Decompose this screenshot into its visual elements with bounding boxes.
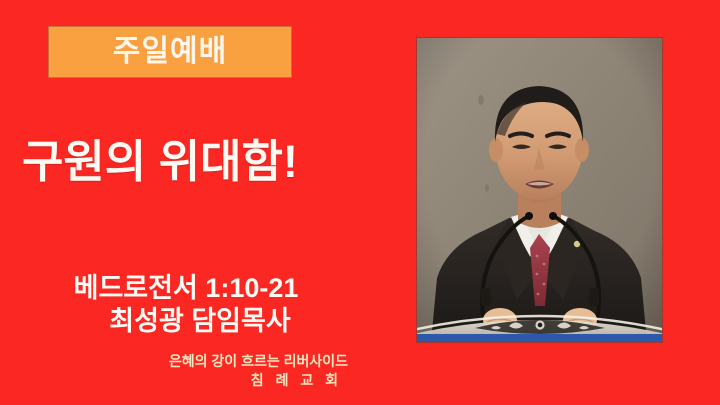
church-name: 침 례 교 회: [0, 371, 348, 390]
church-tagline: 은혜의 강이 흐르는 리버사이드: [0, 352, 348, 371]
church-identity-block: 은혜의 강이 흐르는 리버사이드 침 례 교 회: [0, 352, 348, 390]
reference-block: 베드로전서 1:10-21 최성광 담임목사: [0, 272, 372, 338]
service-type-label: 주일예배: [113, 37, 227, 67]
preacher-name: 최성광 담임목사: [0, 305, 372, 338]
preacher-photo-illustration: [417, 38, 662, 342]
service-type-badge: 주일예배: [48, 26, 292, 78]
preacher-photo: [417, 38, 662, 342]
sermon-title: 구원의 위대함!: [22, 138, 298, 187]
scripture-reference: 베드로전서 1:10-21: [0, 272, 372, 305]
sermon-title-slide: 주일예배 구원의 위대함! 베드로전서 1:10-21 최성광 담임목사 은혜의…: [0, 0, 720, 405]
